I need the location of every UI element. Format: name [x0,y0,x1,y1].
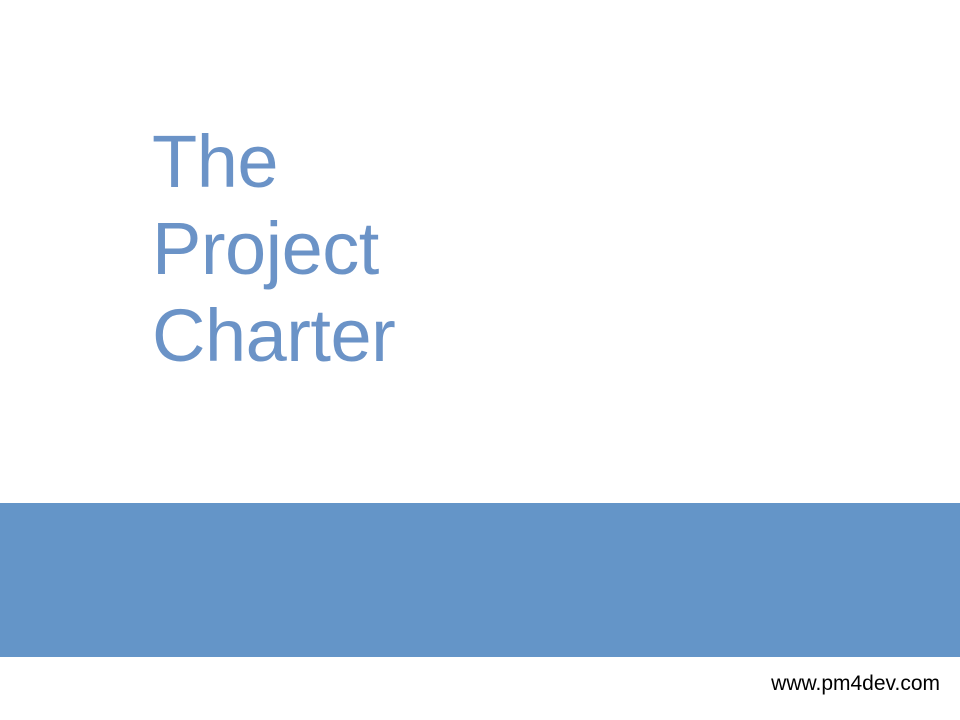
slide-footer: www.pm4dev.com [0,672,940,696]
title-line-3: Charter [152,292,852,379]
title-line-2: Project [152,205,852,292]
presentation-slide: The Project Charter [0,0,960,720]
footer-banner: PM4DEV ® Adaptive Project Management [0,503,960,657]
footer-website-url: www.pm4dev.com [771,672,940,695]
title-line-1: The [152,118,852,205]
page-title: The Project Charter [152,118,852,379]
